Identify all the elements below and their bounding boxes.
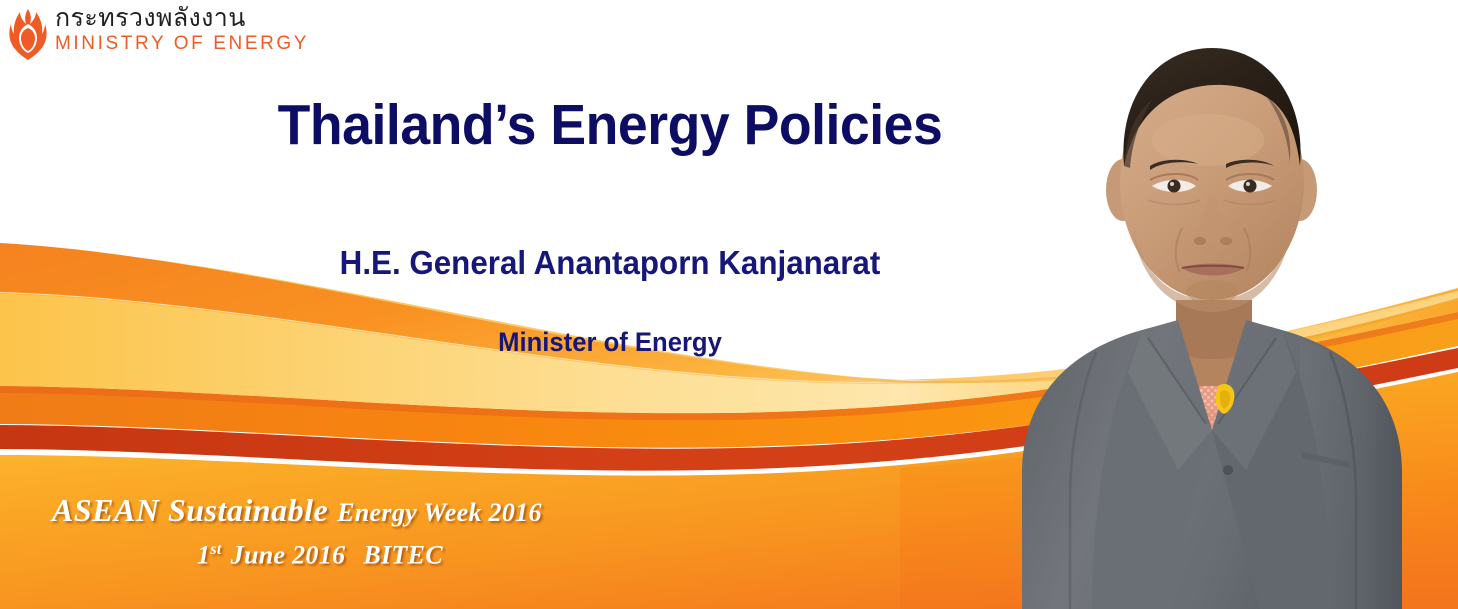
flame-icon — [8, 8, 48, 64]
speaker-name: H.E. General Anantaporn Kanjanarat — [192, 244, 1028, 282]
event-date-venue-line: 1stJune 2016BITEC — [197, 542, 542, 569]
event-name-small: Energy Week 2016 — [337, 498, 542, 527]
event-day-suffix: st — [210, 541, 221, 558]
ministry-logo: กระทรวงพลังงาน MINISTRY OF ENERGY — [8, 6, 309, 64]
title-slide: กระทรวงพลังงาน MINISTRY OF ENERGY — [0, 0, 1458, 609]
title-text-block: Thailand’s Energy Policies H.E. General … — [170, 92, 1050, 358]
logo-english-text: MINISTRY OF ENERGY — [55, 34, 309, 53]
event-name-line: ASEAN SustainableEnergy Week 2016 — [52, 494, 542, 526]
event-footer: ASEAN SustainableEnergy Week 2016 1stJun… — [52, 494, 542, 569]
event-month-year: June 2016 — [231, 541, 346, 570]
event-name-large: ASEAN Sustainable — [52, 492, 328, 528]
minister-portrait-photo — [1000, 0, 1458, 609]
page-title: Thailand’s Energy Policies — [196, 92, 1023, 158]
speaker-role: Minister of Energy — [192, 327, 1028, 358]
event-day: 1 — [197, 541, 210, 570]
event-venue: BITEC — [363, 541, 443, 570]
logo-thai-text: กระทรวงพลังงาน — [55, 6, 309, 31]
